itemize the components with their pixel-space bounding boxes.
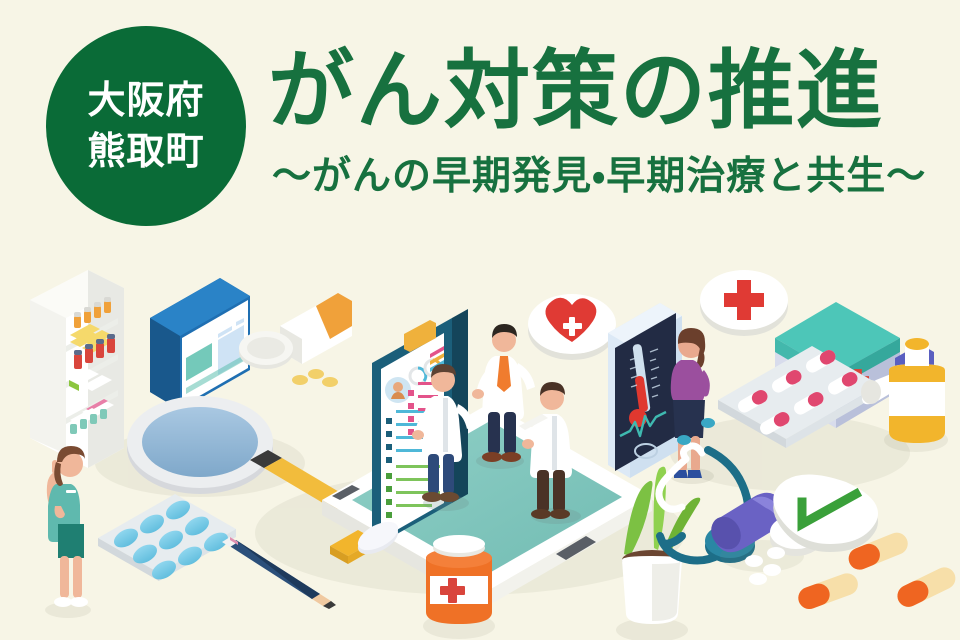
poster-header: 大阪府 熊取町 がん対策の推進 〜がんの早期発見・早期治療と共生〜 — [0, 0, 960, 250]
pill-bottle-orange — [239, 293, 352, 387]
medical-illustration — [0, 248, 960, 640]
page-subtitle: 〜がんの早期発見・早期治療と共生〜 — [272, 156, 926, 199]
badge-prefecture: 大阪府 — [87, 75, 204, 126]
pharmacy-shelf — [30, 270, 124, 468]
red-cross-badge — [700, 270, 788, 336]
poster-canvas: 大阪府 熊取町 がん対策の推進 〜がんの早期発見・早期治療と共生〜 — [0, 0, 960, 640]
badge-town: 熊取町 — [87, 126, 204, 177]
municipality-badge: 大阪府 熊取町 — [46, 26, 246, 226]
blue-tablets — [111, 497, 231, 584]
woman-teal — [45, 446, 91, 618]
monitor-window — [150, 278, 250, 410]
heart-cross-badge — [528, 294, 616, 360]
magnifying-glass — [127, 396, 346, 514]
blister-pack-blue — [98, 494, 236, 583]
spilled-pills — [292, 369, 338, 387]
page-title: がん対策の推進 — [268, 46, 884, 137]
